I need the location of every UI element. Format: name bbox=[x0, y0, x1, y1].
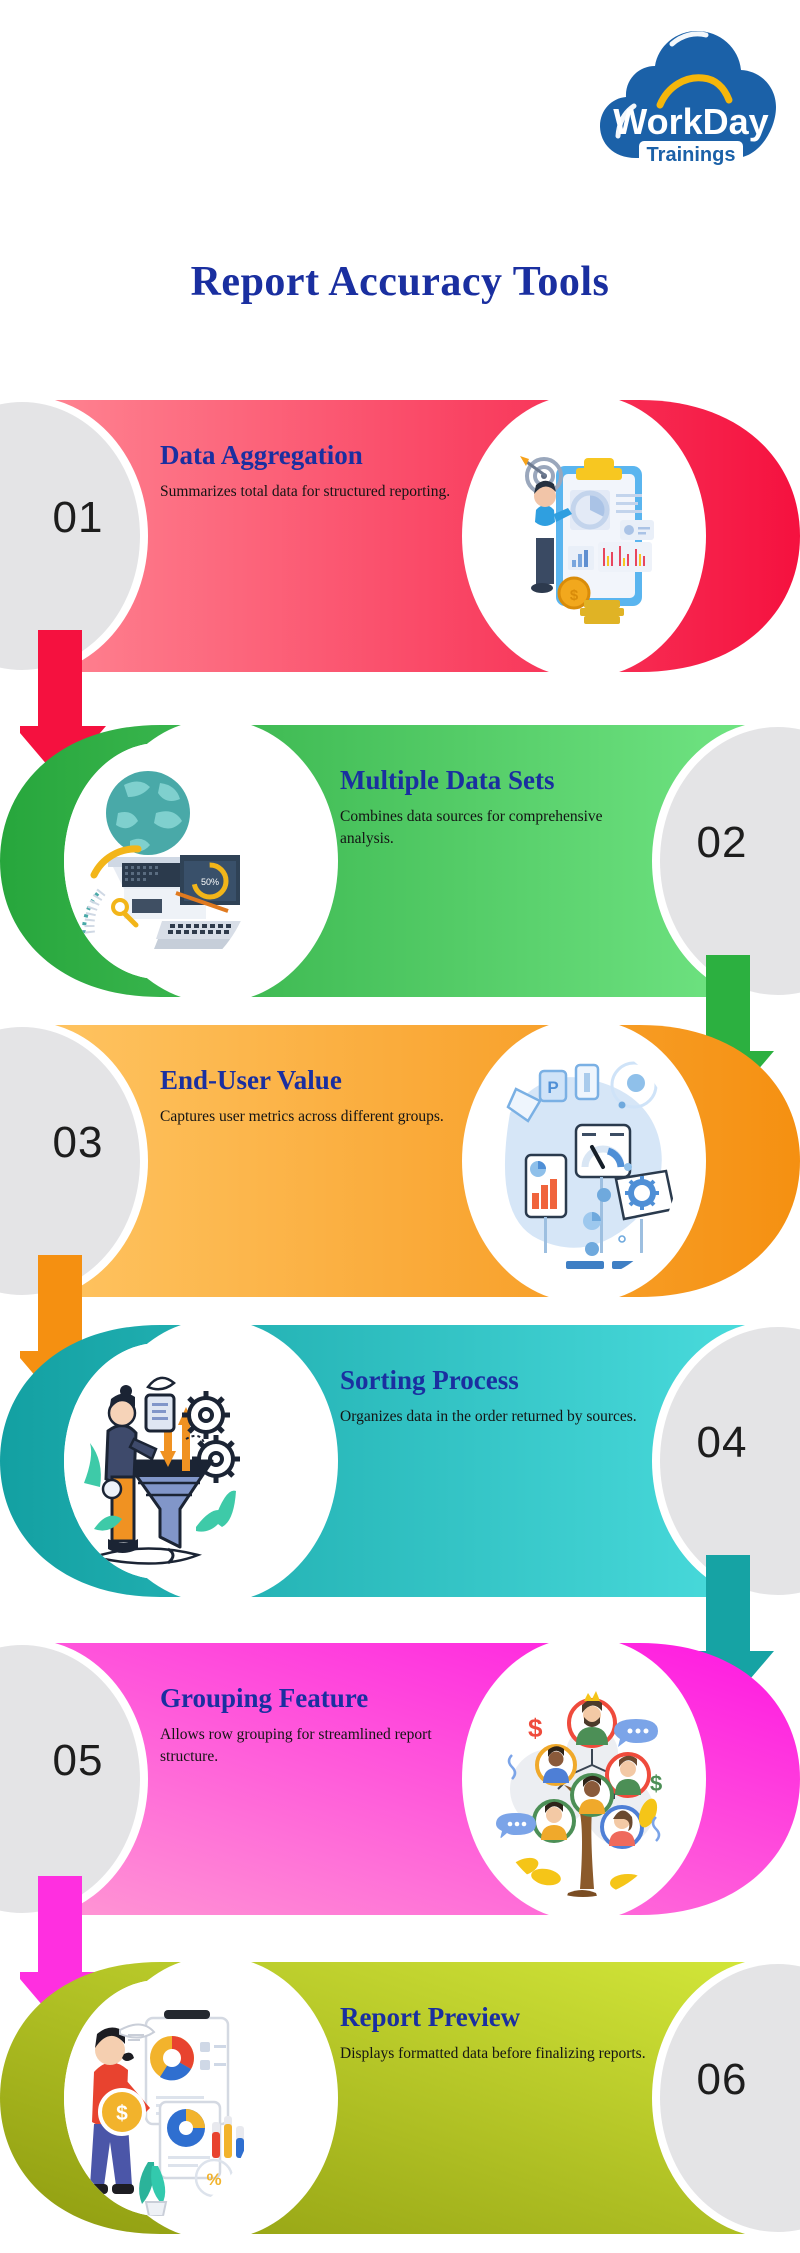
step-row-1: 01 Data Aggregation Summarizes total dat… bbox=[0, 400, 800, 672]
step-number-1: 01 bbox=[18, 496, 138, 540]
step-description-4: Organizes data in the order returned by … bbox=[340, 1406, 650, 1428]
step-heading-2: Multiple Data Sets bbox=[340, 763, 650, 798]
logo-brand-line2: Trainings bbox=[647, 144, 736, 166]
step-description-1: Summarizes total data for structured rep… bbox=[160, 481, 470, 503]
dashboard-gauge-metrics-illustration: P bbox=[488, 1043, 678, 1279]
svg-text:$: $ bbox=[650, 1771, 662, 1796]
svg-text:P: P bbox=[547, 1078, 558, 1097]
step-text-3: End-User Value Captures user metrics acr… bbox=[160, 1063, 470, 1128]
step-number-4: 04 bbox=[662, 1421, 782, 1465]
step-text-1: Data Aggregation Summarizes total data f… bbox=[160, 438, 470, 503]
step-row-2: 02 Multiple Data Sets Combines data sour… bbox=[0, 725, 800, 997]
workday-trainings-logo: WorkDay Trainings bbox=[598, 8, 784, 176]
step-description-5: Allows row grouping for streamlined repo… bbox=[160, 1724, 470, 1769]
step-heading-5: Grouping Feature bbox=[160, 1681, 470, 1716]
logo-brand-line1: WorkDay bbox=[613, 101, 768, 142]
globe-server-laptop-illustration: 50% bbox=[64, 743, 254, 979]
step-text-4: Sorting Process Organizes data in the or… bbox=[340, 1363, 650, 1428]
step-text-5: Grouping Feature Allows row grouping for… bbox=[160, 1681, 470, 1768]
step-heading-3: End-User Value bbox=[160, 1063, 470, 1098]
step-row-5: 05 Grouping Feature Allows row grouping … bbox=[0, 1643, 800, 1915]
infographic-page: WorkDay Trainings Report Accuracy Tools bbox=[0, 0, 800, 2253]
step-heading-4: Sorting Process bbox=[340, 1363, 650, 1398]
step-row-4: 04 Sorting Process Organizes data in the… bbox=[0, 1325, 800, 1597]
svg-text:50%: 50% bbox=[201, 877, 219, 887]
step-heading-6: Report Preview bbox=[340, 2000, 650, 2035]
svg-text:$: $ bbox=[116, 2102, 128, 2125]
step-row-3: 03 End-User Value Captures user metrics … bbox=[0, 1025, 800, 1297]
report-preview-charts-illustration: % $ bbox=[64, 1980, 254, 2216]
funnel-sorting-gears-illustration bbox=[64, 1343, 254, 1579]
step-number-3: 03 bbox=[18, 1121, 138, 1165]
svg-text:$: $ bbox=[570, 587, 579, 604]
svg-text:%: % bbox=[206, 2170, 221, 2189]
step-description-6: Displays formatted data before finalizin… bbox=[340, 2043, 650, 2065]
step-description-2: Combines data sources for comprehensive … bbox=[340, 806, 650, 851]
page-title: Report Accuracy Tools bbox=[0, 258, 800, 306]
step-number-2: 02 bbox=[662, 821, 782, 865]
svg-text:$: $ bbox=[528, 1713, 543, 1743]
step-row-6: 06 Report Preview Displays formatted dat… bbox=[0, 1962, 800, 2234]
data-report-clipboard-illustration: $ bbox=[488, 418, 678, 654]
team-network-tree-illustration: $ $ bbox=[488, 1661, 678, 1897]
step-number-6: 06 bbox=[662, 2058, 782, 2102]
step-number-5: 05 bbox=[18, 1739, 138, 1783]
step-text-6: Report Preview Displays formatted data b… bbox=[340, 2000, 650, 2065]
cloud-logo-icon: WorkDay Trainings bbox=[598, 8, 784, 176]
step-text-2: Multiple Data Sets Combines data sources… bbox=[340, 763, 650, 850]
step-description-3: Captures user metrics across different g… bbox=[160, 1106, 470, 1128]
step-heading-1: Data Aggregation bbox=[160, 438, 470, 473]
